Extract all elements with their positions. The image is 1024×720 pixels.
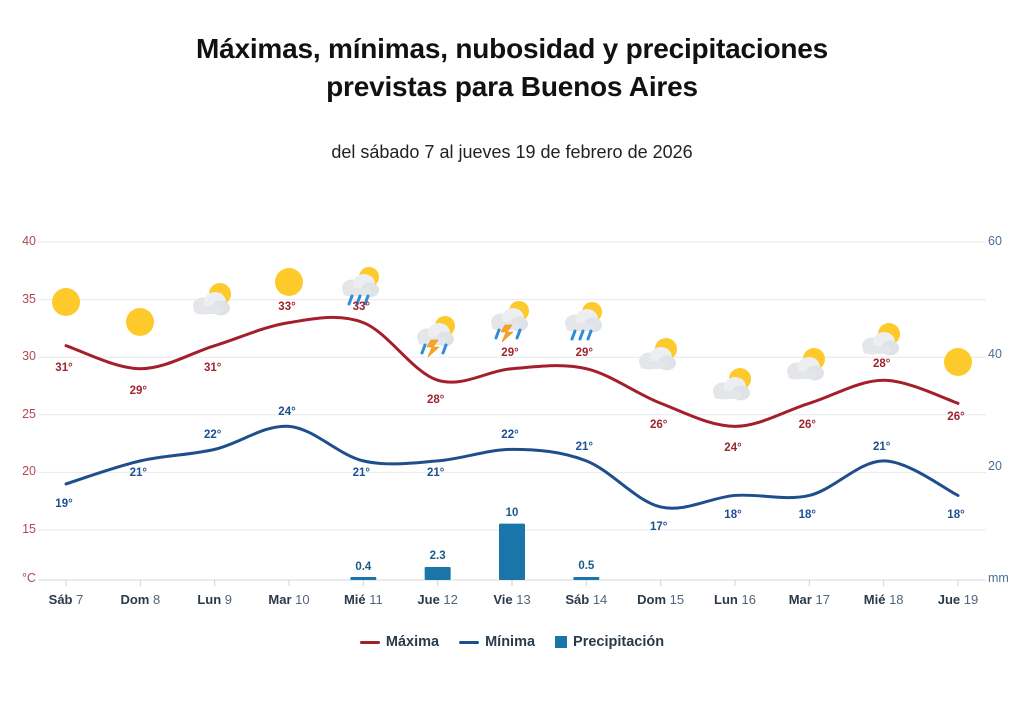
max-temp-label: 28°	[873, 358, 890, 370]
sun-cloud-rain-icon	[564, 300, 608, 349]
max-temp-label: 33°	[353, 301, 370, 313]
y-axis-right-tick: 20	[988, 459, 1022, 473]
min-temp-label: 21°	[130, 467, 147, 479]
precipitation-label: 2.3	[430, 550, 446, 562]
x-axis-day-label: Mié 11	[344, 592, 383, 607]
day-number: 10	[292, 592, 310, 607]
y-axis-left-tick: 15	[2, 522, 36, 536]
x-axis-day-label: Lun 9	[197, 592, 232, 607]
day-name: Vie	[493, 592, 512, 607]
day-name: Lun	[197, 592, 221, 607]
page-title: Máximas, mínimas, nubosidad y precipitac…	[0, 30, 1024, 106]
precipitation-label: 10	[506, 507, 519, 519]
min-temp-label: 21°	[427, 467, 444, 479]
day-number: 13	[513, 592, 531, 607]
day-name: Jue	[938, 592, 960, 607]
min-temp-label: 22°	[204, 429, 221, 441]
day-name: Mar	[789, 592, 812, 607]
precipitation-bar	[573, 577, 599, 580]
precipitation-label: 0.4	[355, 561, 371, 573]
x-axis-day-label: Vie 13	[493, 592, 530, 607]
x-axis-day-label: Mar 10	[268, 592, 309, 607]
precipitation-bar	[499, 524, 525, 580]
weather-forecast-chart: Máximas, mínimas, nubosidad y precipitac…	[0, 0, 1024, 720]
day-number: 9	[221, 592, 232, 607]
max-temp-label: 26°	[650, 419, 667, 431]
sun-cloud-icon	[639, 335, 683, 380]
day-number: 11	[366, 592, 383, 607]
x-axis-day-label: Dom 15	[637, 592, 684, 607]
max-temp-label: 29°	[501, 347, 518, 359]
day-name: Dom	[637, 592, 666, 607]
legend-square-icon	[555, 636, 567, 648]
sun-icon	[941, 345, 975, 384]
page-subtitle: del sábado 7 al jueves 19 de febrero de …	[0, 142, 1024, 163]
y-axis-left-tick: 20	[2, 464, 36, 478]
x-axis-day-label: Sáb 14	[565, 592, 607, 607]
chart-plot-area	[0, 228, 1024, 593]
x-axis-day-label: Mié 18	[864, 592, 904, 607]
day-number: 18	[885, 592, 903, 607]
max-temp-label: 26°	[947, 411, 964, 423]
sun-cloud-storm-icon	[490, 300, 534, 351]
day-name: Lun	[714, 592, 738, 607]
day-name: Dom	[120, 592, 149, 607]
sun-cloud-icon	[713, 365, 757, 410]
legend-item[interactable]: Máxima	[360, 634, 439, 650]
x-axis-day-label: Lun 16	[714, 592, 756, 607]
max-temp-label: 33°	[278, 301, 295, 313]
legend-label: Precipitación	[573, 634, 664, 650]
page-title-line1: Máximas, mínimas, nubosidad y precipitac…	[70, 30, 954, 68]
y-axis-right-tick: 60	[988, 234, 1022, 248]
day-number: 16	[738, 592, 756, 607]
min-temp-label: 18°	[724, 509, 741, 521]
day-number: 14	[589, 592, 607, 607]
legend-item[interactable]: Precipitación	[555, 634, 664, 650]
y-axis-left-tick: 35	[2, 292, 36, 306]
y-axis-right-tick: 40	[988, 347, 1022, 361]
sun-cloud-storm-icon	[416, 315, 460, 366]
max-temp-label: 24°	[724, 442, 741, 454]
max-temp-label: 26°	[799, 419, 816, 431]
day-number: 19	[960, 592, 978, 607]
y-axis-left-unit: °C	[2, 571, 36, 585]
x-axis-day-label: Mar 17	[789, 592, 830, 607]
max-temp-label: 31°	[204, 362, 221, 374]
day-name: Jue	[417, 592, 439, 607]
precipitation-label: 0.5	[578, 560, 594, 572]
min-temp-label: 19°	[55, 498, 72, 510]
max-temp-label: 29°	[576, 347, 593, 359]
legend-line-icon	[360, 641, 380, 644]
max-temp-label: 28°	[427, 394, 444, 406]
x-axis-day-label: Jue 12	[417, 592, 457, 607]
sun-icon	[49, 285, 83, 324]
min-temp-label: 18°	[799, 509, 816, 521]
min-temp-label: 22°	[501, 429, 518, 441]
min-temp-label: 17°	[650, 521, 667, 533]
min-temp-label: 21°	[576, 441, 593, 453]
day-name: Sáb	[49, 592, 73, 607]
x-axis-days: Sáb 7Dom 8Lun 9Mar 10Mié 11Jue 12Vie 13S…	[0, 592, 1024, 614]
day-name: Sáb	[565, 592, 589, 607]
min-temp-label: 24°	[278, 406, 295, 418]
day-number: 15	[666, 592, 684, 607]
sun-cloud-icon	[787, 345, 831, 390]
sun-cloud-icon	[193, 280, 237, 325]
max-temp-label: 29°	[130, 385, 147, 397]
y-axis-left-tick: 30	[2, 349, 36, 363]
sun-icon	[123, 305, 157, 344]
legend-label: Mínima	[485, 634, 535, 650]
chart-legend: MáximaMínimaPrecipitación	[0, 634, 1024, 650]
x-axis-day-label: Jue 19	[938, 592, 978, 607]
day-number: 12	[440, 592, 458, 607]
page-title-line2: previstas para Buenos Aires	[70, 68, 954, 106]
min-temp-label: 21°	[353, 467, 370, 479]
day-name: Mar	[268, 592, 291, 607]
max-temp-label: 31°	[55, 362, 72, 374]
y-axis-left-tick: 40	[2, 234, 36, 248]
legend-line-icon	[459, 641, 479, 644]
legend-label: Máxima	[386, 634, 439, 650]
day-number: 8	[149, 592, 160, 607]
min-temp-label: 18°	[947, 509, 964, 521]
y-axis-right-unit: mm	[988, 571, 1022, 585]
x-axis-day-label: Sáb 7	[49, 592, 84, 607]
min-temp-label: 21°	[873, 441, 890, 453]
y-axis-left-tick: 25	[2, 407, 36, 421]
sun-icon	[272, 265, 306, 304]
day-number: 7	[73, 592, 84, 607]
day-name: Mié	[864, 592, 886, 607]
x-axis-day-label: Dom 8	[120, 592, 160, 607]
legend-item[interactable]: Mínima	[459, 634, 535, 650]
day-number: 17	[812, 592, 830, 607]
precipitation-bar	[425, 567, 451, 580]
day-name: Mié	[344, 592, 366, 607]
chart-svg	[0, 228, 1024, 593]
precipitation-bar	[350, 577, 376, 580]
